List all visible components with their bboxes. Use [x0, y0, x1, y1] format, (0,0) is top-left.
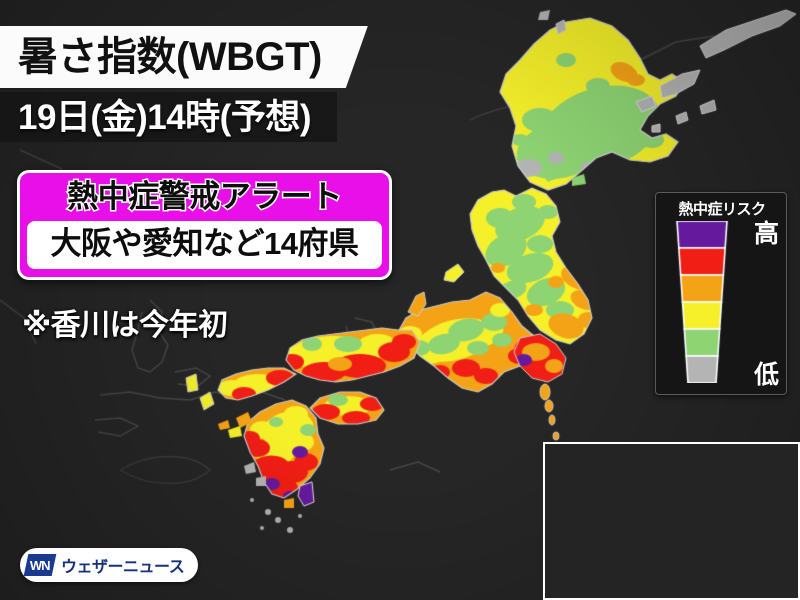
brand-name: ウェザーニュース	[61, 553, 184, 577]
wn-mark-icon: WN	[24, 554, 57, 576]
alert-subline: 大阪や愛知など14府県	[33, 225, 376, 264]
alert-note: ※香川は今年初	[22, 300, 228, 344]
legend-low-label: 低	[754, 363, 779, 388]
weathernews-logo: WN ウェザーニュース	[20, 548, 198, 582]
wn-mark-text: WN	[30, 558, 50, 573]
datetime-bar: 19日(金)14時(予想)	[0, 92, 337, 142]
alert-subline-panel: 大阪や愛知など14府県	[27, 221, 382, 269]
legend-color-scale	[670, 221, 734, 383]
heatstroke-alert-box: 熱中症警戒アラート 大阪や愛知など14府県	[17, 170, 392, 280]
risk-legend: 熱中症リスク 高 低	[655, 192, 787, 395]
legend-high-label: 高	[754, 222, 779, 247]
okinawa-inset	[543, 442, 800, 600]
weather-map-screen: 暑さ指数(WBGT) 19日(金)14時(予想) 熱中症警戒アラート 大阪や愛知…	[0, 0, 800, 600]
legend-title: 熱中症リスク	[656, 198, 788, 219]
title-banner: 暑さ指数(WBGT)	[0, 26, 368, 88]
page-title: 暑さ指数(WBGT)	[18, 37, 322, 77]
forecast-datetime: 19日(金)14時(予想)	[18, 100, 311, 135]
title-bar: 暑さ指数(WBGT)	[0, 26, 368, 88]
alert-headline: 熱中症警戒アラート	[27, 178, 382, 217]
